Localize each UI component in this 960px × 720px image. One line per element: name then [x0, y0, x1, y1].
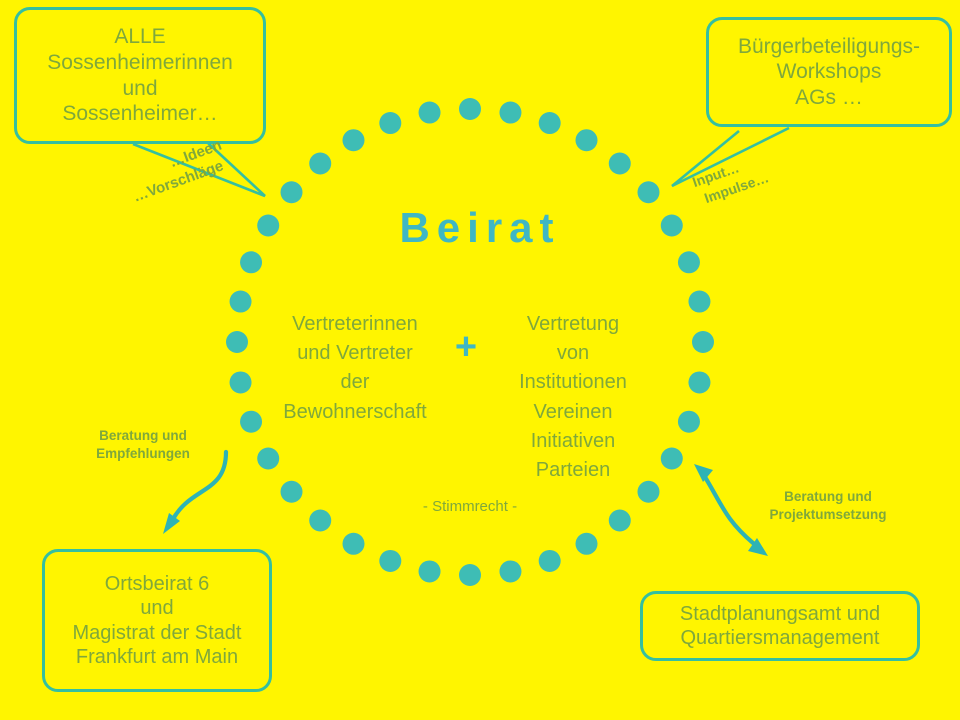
circle-dot — [678, 411, 700, 433]
bubble-workshops-line-1: Bürgerbeteiligungs- — [709, 34, 949, 60]
center-right-line-2: von — [480, 339, 666, 368]
arrow-head-beratung-empfehlungen — [163, 513, 180, 534]
center-right-line-1: Vertretung — [480, 310, 666, 339]
circle-dot — [499, 560, 521, 582]
box-stadtplanungsamt-quartiersmanagement[interactable]: Stadtplanungsamt und Quartiersmanagement — [640, 591, 920, 661]
center-column-residents: Vertreterinnen und Vertreter der Bewohne… — [262, 310, 448, 427]
center-left-line-3: der — [262, 368, 448, 397]
annotation-input-impulse: Input… Impulse… — [690, 150, 771, 209]
circle-dot — [309, 509, 331, 531]
arrow-beratung-projektumsetzung — [705, 477, 753, 543]
annotation-beratung-projektumsetzung: Beratung und Projektumsetzung — [748, 488, 908, 524]
arrow-head-down-right — [748, 538, 768, 556]
box-ortsbeirat-line-3: Magistrat der Stadt — [45, 621, 269, 645]
bubble-participation-workshops[interactable]: Bürgerbeteiligungs- Workshops AGs … — [706, 17, 952, 127]
circle-dot — [576, 533, 598, 555]
center-left-line-2: und Vertreter — [262, 339, 448, 368]
center-left-line-4: Bewohnerschaft — [262, 398, 448, 427]
center-column-institutions: Vertretung von Institutionen Vereinen In… — [480, 310, 666, 485]
circle-dot — [240, 411, 262, 433]
circle-dot — [343, 533, 365, 555]
circle-dot — [230, 291, 252, 313]
bubble-citizens-line-1: ALLE — [17, 24, 263, 50]
box-ortsbeirat-line-2: und — [45, 596, 269, 620]
circle-dot — [257, 448, 279, 470]
center-left-line-1: Vertreterinnen — [262, 310, 448, 339]
circle-dot — [609, 153, 631, 175]
circle-dot — [539, 112, 561, 134]
circle-dot — [309, 153, 331, 175]
circle-dot — [419, 102, 441, 124]
annotation-ideen-vorschlaege: …Ideen …Vorschläge — [118, 136, 232, 210]
page-title-beirat: Beirat — [0, 204, 960, 252]
circle-dot — [419, 560, 441, 582]
circle-dot — [609, 509, 631, 531]
circle-dot — [576, 129, 598, 151]
bubble-citizens-line-3: und — [17, 76, 263, 102]
circle-dot — [281, 481, 303, 503]
circle-dot — [688, 291, 710, 313]
bubble-citizens-line-4: Sossenheimer… — [17, 101, 263, 127]
circle-dot — [343, 129, 365, 151]
center-footnote-stimmrecht: - Stimmrecht - — [330, 498, 610, 515]
center-right-line-5: Initiativen — [480, 427, 666, 456]
annotation-beratung-empfehlungen: Beratung und Empfehlungen — [78, 427, 208, 463]
bubble-all-citizens[interactable]: ALLE Sossenheimerinnen und Sossenheimer… — [14, 7, 266, 144]
bubble-citizens-line-2: Sossenheimerinnen — [17, 50, 263, 76]
box-stadtplanung-line-1: Stadtplanungsamt und — [643, 602, 917, 626]
circle-dot — [281, 181, 303, 203]
annotation-beratung-empfehlungen-line-2: Empfehlungen — [78, 445, 208, 463]
circle-dot — [539, 550, 561, 572]
arrow-head-up-left — [694, 464, 713, 482]
center-right-line-3: Institutionen — [480, 368, 666, 397]
circle-dot — [379, 112, 401, 134]
annotation-beratung-projektumsetzung-line-1: Beratung und — [748, 488, 908, 506]
circle-dot — [240, 251, 262, 273]
circle-dot — [379, 550, 401, 572]
circle-dot — [692, 331, 714, 353]
circle-dot — [459, 98, 481, 120]
circle-dot — [230, 371, 252, 393]
center-right-line-6: Parteien — [480, 456, 666, 485]
box-ortsbeirat-line-4: Frankfurt am Main — [45, 645, 269, 669]
box-stadtplanung-line-2: Quartiersmanagement — [643, 626, 917, 650]
bubble-workshops-line-2: Workshops — [709, 59, 949, 85]
box-ortsbeirat-magistrat[interactable]: Ortsbeirat 6 und Magistrat der Stadt Fra… — [42, 549, 272, 692]
circle-dot — [499, 102, 521, 124]
circle-dot — [226, 331, 248, 353]
annotation-beratung-projektumsetzung-line-2: Projektumsetzung — [748, 506, 908, 524]
circle-dot — [459, 564, 481, 586]
circle-dot — [688, 371, 710, 393]
annotation-beratung-empfehlungen-line-1: Beratung und — [78, 427, 208, 445]
box-ortsbeirat-line-1: Ortsbeirat 6 — [45, 572, 269, 596]
circle-dot — [678, 251, 700, 273]
bubble-workshops-line-3: AGs … — [709, 85, 949, 111]
circle-dot — [637, 181, 659, 203]
diagram-canvas: ALLE Sossenheimerinnen und Sossenheimer…… — [0, 0, 960, 720]
center-right-line-4: Vereinen — [480, 398, 666, 427]
